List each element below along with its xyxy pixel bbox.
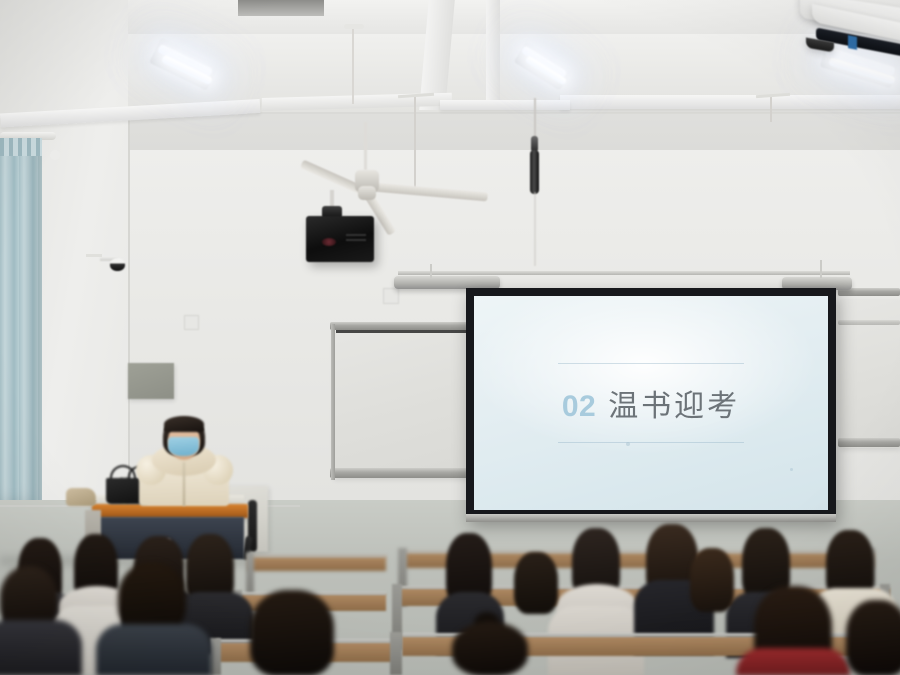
hanging-microphone-wire <box>534 192 536 266</box>
projection-screen-mount-bar <box>398 271 850 275</box>
student-hair <box>514 552 558 614</box>
slide-decorative-dot <box>790 468 793 471</box>
whiteboard <box>333 326 479 478</box>
whiteboard-side-frame <box>331 324 335 480</box>
bench-row <box>248 556 386 571</box>
podium-wooden-top <box>92 504 248 518</box>
bench-end-post <box>390 632 402 675</box>
whiteboard-top-edge <box>336 330 476 333</box>
slide-title: 温书迎考 <box>608 381 740 425</box>
student-torso <box>736 648 850 675</box>
presenter-hair-top <box>164 416 204 432</box>
student-head <box>452 622 528 675</box>
student-hair <box>846 600 900 675</box>
air-conditioner-accent <box>848 35 857 50</box>
bench-edge <box>248 554 386 557</box>
wall-panel <box>128 363 174 399</box>
whiteboard-rail <box>838 320 900 325</box>
screen-hanger <box>430 264 432 278</box>
ceiling-beam <box>560 95 900 109</box>
ceiling-fan-rod <box>364 122 367 170</box>
whiteboard-bottom-tray <box>330 468 482 478</box>
whiteboard-bottom-tray <box>838 438 900 447</box>
wall-switch-plate <box>184 315 199 330</box>
hanger-rod <box>770 96 772 122</box>
slide-heading-row: 02 温书迎考 <box>562 364 740 442</box>
student-hair <box>690 548 734 612</box>
projection-screen-weight-bar <box>466 514 836 522</box>
presenter-face-mask <box>168 437 199 456</box>
slide-decorative-dot <box>626 442 630 446</box>
hanger-rod <box>352 26 354 104</box>
ceiling-vent <box>238 0 324 16</box>
ceiling-beam <box>440 100 570 110</box>
wall-seam <box>200 112 900 114</box>
scarf-on-podium <box>66 488 96 506</box>
wall-switch-plate <box>383 288 399 304</box>
projector-vent <box>346 234 366 236</box>
window-curtain <box>0 138 42 500</box>
slide-divider-bottom <box>558 442 744 443</box>
presentation-slide: 02 温书迎考 <box>474 296 828 510</box>
hanger-rod <box>414 96 416 192</box>
student-torso <box>96 624 212 675</box>
student-hair <box>250 590 334 675</box>
ceiling-anchor <box>344 24 364 29</box>
slide-number: 02 <box>562 390 596 424</box>
security-camera-arm <box>86 254 102 257</box>
curtain-rod-finial <box>50 150 60 160</box>
screen-hanger <box>820 260 822 278</box>
curtain-pleats <box>0 138 42 156</box>
security-camera <box>110 258 125 271</box>
projector-lens <box>322 238 336 246</box>
hanging-microphone <box>530 150 539 194</box>
projector-vent <box>346 239 366 241</box>
projection-screen: 02 温书迎考 <box>474 296 828 510</box>
classroom-photo: 02 温书迎考 <box>0 0 900 675</box>
whiteboard-top-rail <box>330 322 482 330</box>
presenter-coat-zipper <box>183 462 185 506</box>
ceiling-beam-drop <box>486 0 500 100</box>
student-torso <box>0 620 82 675</box>
ceiling-fan-housing <box>358 186 376 200</box>
